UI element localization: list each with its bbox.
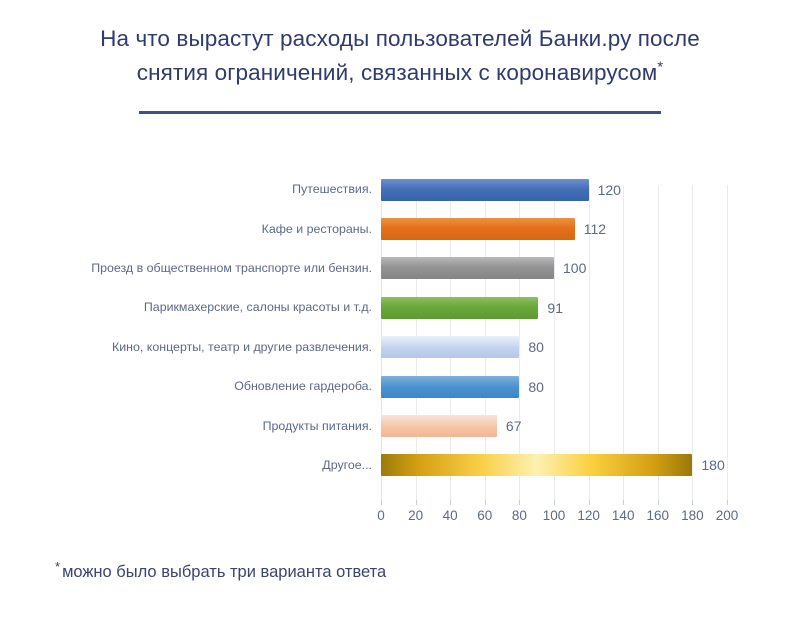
bar-row: Кафе и рестораны.112 — [0, 209, 800, 248]
bar[interactable] — [381, 257, 554, 279]
bar-container: 180 — [381, 446, 725, 485]
axis-tick-mark — [589, 500, 590, 505]
axis-tick-mark — [554, 500, 555, 505]
bar-value-label: 91 — [547, 300, 563, 316]
title-line-2-text: снятия ограничений, связанных с коронави… — [137, 60, 658, 85]
axis-tick-label: 0 — [377, 508, 385, 523]
bar-row: Кино, концерты, театр и другие развлечен… — [0, 328, 800, 367]
axis-tick-mark — [519, 500, 520, 505]
title-divider — [139, 111, 661, 114]
value-axis: 020406080100120140160180200 — [381, 500, 727, 534]
bar-value-label: 180 — [701, 457, 724, 473]
footnote: *можно было выбрать три варианта ответа — [55, 563, 386, 582]
bar-container: 91 — [381, 288, 563, 327]
bar-value-label: 100 — [563, 260, 586, 276]
bar-value-label: 67 — [506, 418, 522, 434]
category-label: Парикмахерские, салоны красоты и т.д. — [20, 300, 372, 315]
category-label: Обновление гардероба. — [20, 379, 372, 394]
axis-tick-label: 180 — [681, 508, 704, 523]
bar-value-label: 80 — [528, 339, 544, 355]
bar[interactable] — [381, 376, 519, 398]
bar-row: Продукты питания.67 — [0, 406, 800, 445]
axis-tick-label: 40 — [443, 508, 458, 523]
bar-rows: Путешествия.120Кафе и рестораны.112Проез… — [0, 170, 800, 485]
bar-container: 67 — [381, 406, 521, 445]
footnote-marker: * — [55, 559, 60, 574]
axis-tick-mark — [416, 500, 417, 505]
bar-row: Путешествия.120 — [0, 170, 800, 209]
axis-tick-mark — [692, 500, 693, 505]
axis-tick-label: 120 — [577, 508, 600, 523]
title-asterisk: * — [657, 59, 663, 76]
bar-row: Другое...180 — [0, 446, 800, 485]
bar[interactable] — [381, 297, 538, 319]
footnote-text: можно было выбрать три варианта ответа — [62, 563, 386, 581]
axis-tick-label: 160 — [647, 508, 670, 523]
bar-row: Парикмахерские, салоны красоты и т.д.91 — [0, 288, 800, 327]
bar-container: 112 — [381, 209, 606, 248]
bar-row: Обновление гардероба.80 — [0, 367, 800, 406]
axis-tick-mark — [658, 500, 659, 505]
title-line-2: снятия ограничений, связанных с коронави… — [0, 56, 800, 90]
category-label: Другое... — [20, 458, 372, 473]
bar-value-label: 120 — [598, 182, 621, 198]
axis-tick-mark — [727, 500, 728, 505]
axis-tick-label: 20 — [408, 508, 423, 523]
bar-container: 120 — [381, 170, 621, 209]
bar[interactable] — [381, 179, 589, 201]
axis-tick-mark — [381, 500, 382, 505]
axis-tick-mark — [485, 500, 486, 505]
page-title: На что вырастут расходы пользователей Ба… — [0, 0, 800, 114]
bar-container: 80 — [381, 328, 544, 367]
bar-container: 100 — [381, 249, 586, 288]
bar[interactable] — [381, 415, 497, 437]
axis-tick-label: 60 — [477, 508, 492, 523]
axis-tick-label: 80 — [512, 508, 527, 523]
bar[interactable] — [381, 454, 692, 476]
axis-tick-label: 200 — [716, 508, 739, 523]
axis-tick-mark — [450, 500, 451, 505]
category-label: Кино, концерты, театр и другие развлечен… — [20, 340, 372, 355]
bar-chart: Путешествия.120Кафе и рестораны.112Проез… — [0, 170, 800, 540]
bar-container: 80 — [381, 367, 544, 406]
bar-value-label: 80 — [528, 379, 544, 395]
bar[interactable] — [381, 218, 575, 240]
bar-value-label: 112 — [584, 221, 606, 237]
category-label: Кафе и рестораны. — [20, 222, 372, 237]
category-label: Проезд в общественном транспорте или бен… — [20, 261, 372, 276]
bar-row: Проезд в общественном транспорте или бен… — [0, 249, 800, 288]
category-label: Путешествия. — [20, 182, 372, 197]
bar[interactable] — [381, 336, 519, 358]
axis-tick-mark — [623, 500, 624, 505]
category-label: Продукты питания. — [20, 419, 372, 434]
title-line-1: На что вырастут расходы пользователей Ба… — [0, 22, 800, 56]
axis-tick-label: 100 — [543, 508, 566, 523]
axis-tick-label: 140 — [612, 508, 635, 523]
